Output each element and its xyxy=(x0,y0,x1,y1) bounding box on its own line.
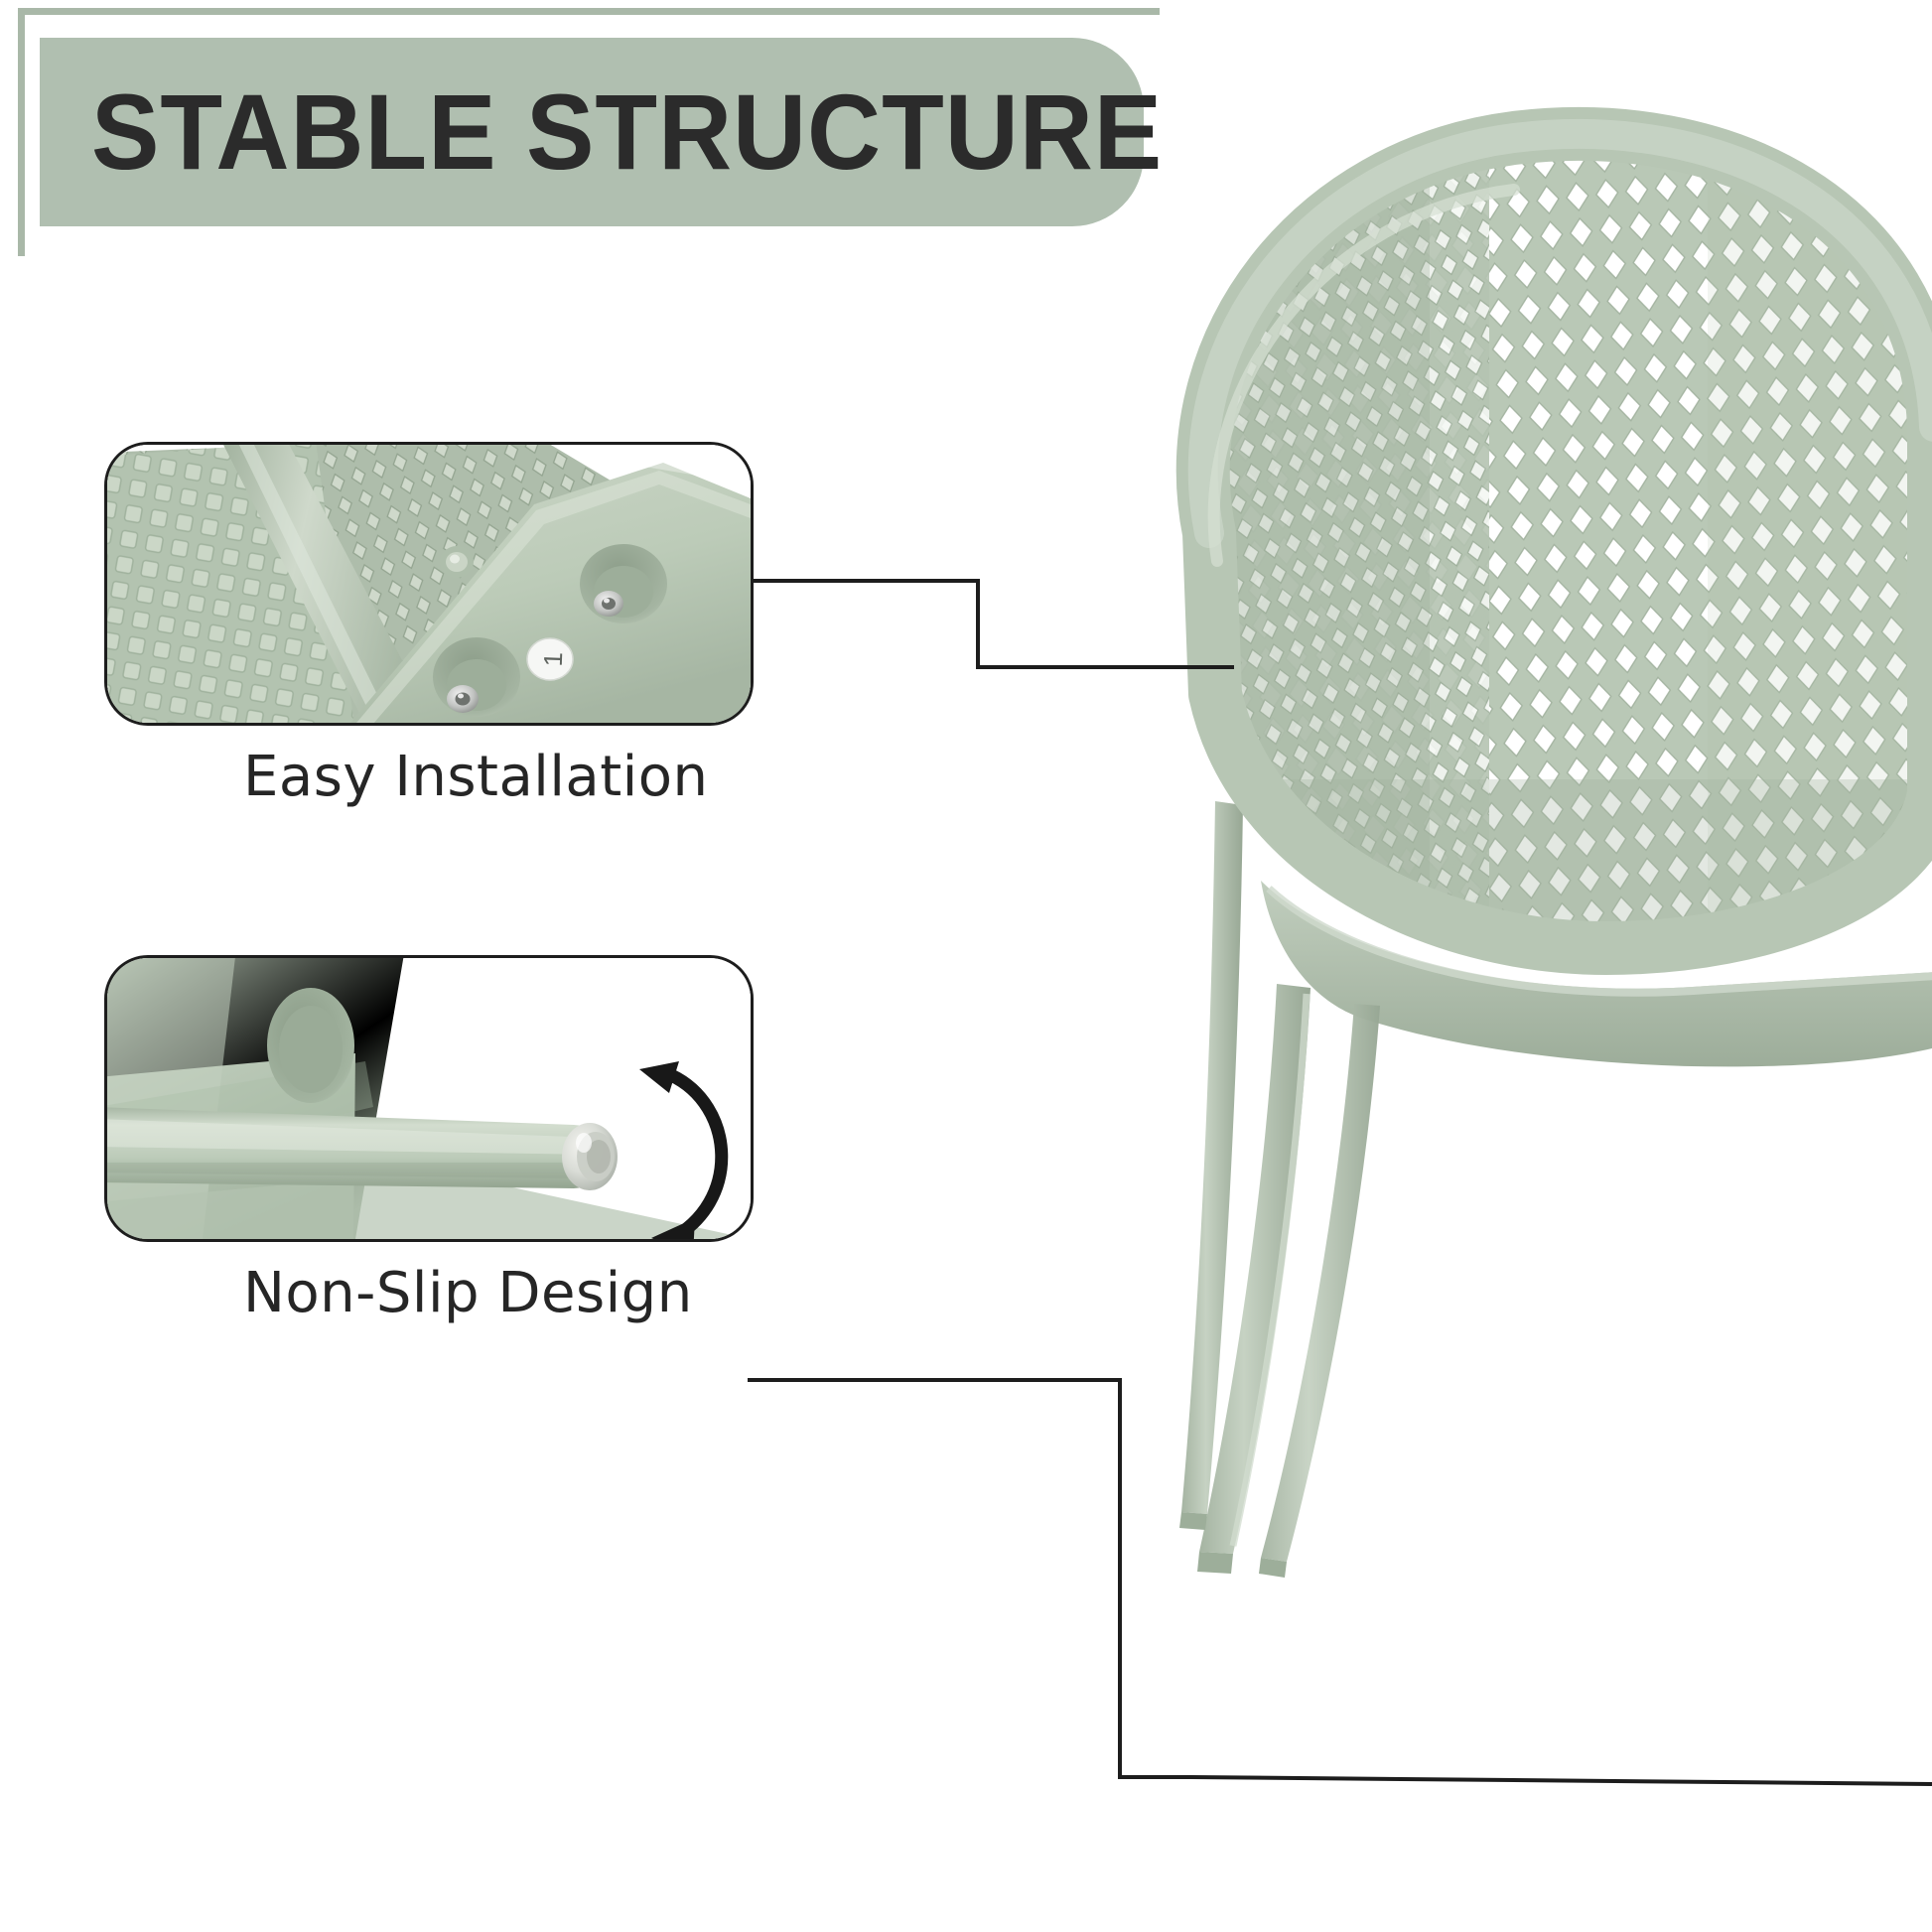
callout-caption-easy-installation: Easy Installation xyxy=(243,745,708,809)
non-slip-foot-cap xyxy=(562,1123,618,1190)
page-title: STABLE STRUCTURE xyxy=(91,78,1163,186)
sticker-number: 1 xyxy=(538,651,568,667)
title-banner: STABLE STRUCTURE xyxy=(40,38,1144,226)
product-image xyxy=(1013,94,1932,1584)
chair-shell xyxy=(1191,124,1932,958)
callout-caption-non-slip-design: Non-Slip Design xyxy=(243,1261,693,1325)
screw-2 xyxy=(433,637,520,717)
header-rule-left xyxy=(18,8,25,256)
chair-illustration xyxy=(1013,94,1932,1584)
callout-card-non-slip-design[interactable] xyxy=(104,955,754,1242)
infographic-canvas: STABLE STRUCTURE xyxy=(0,0,1932,1932)
callout-photo-non-slip-design xyxy=(107,958,751,1239)
header-rule-top xyxy=(18,8,1160,15)
chair-right-leg xyxy=(1543,1018,1590,1466)
callout-photo-easy-installation: 1 xyxy=(107,445,751,723)
callout-card-easy-installation[interactable]: 1 xyxy=(104,442,754,726)
part-number-sticker: 1 xyxy=(527,638,573,680)
screw-1 xyxy=(580,544,667,623)
